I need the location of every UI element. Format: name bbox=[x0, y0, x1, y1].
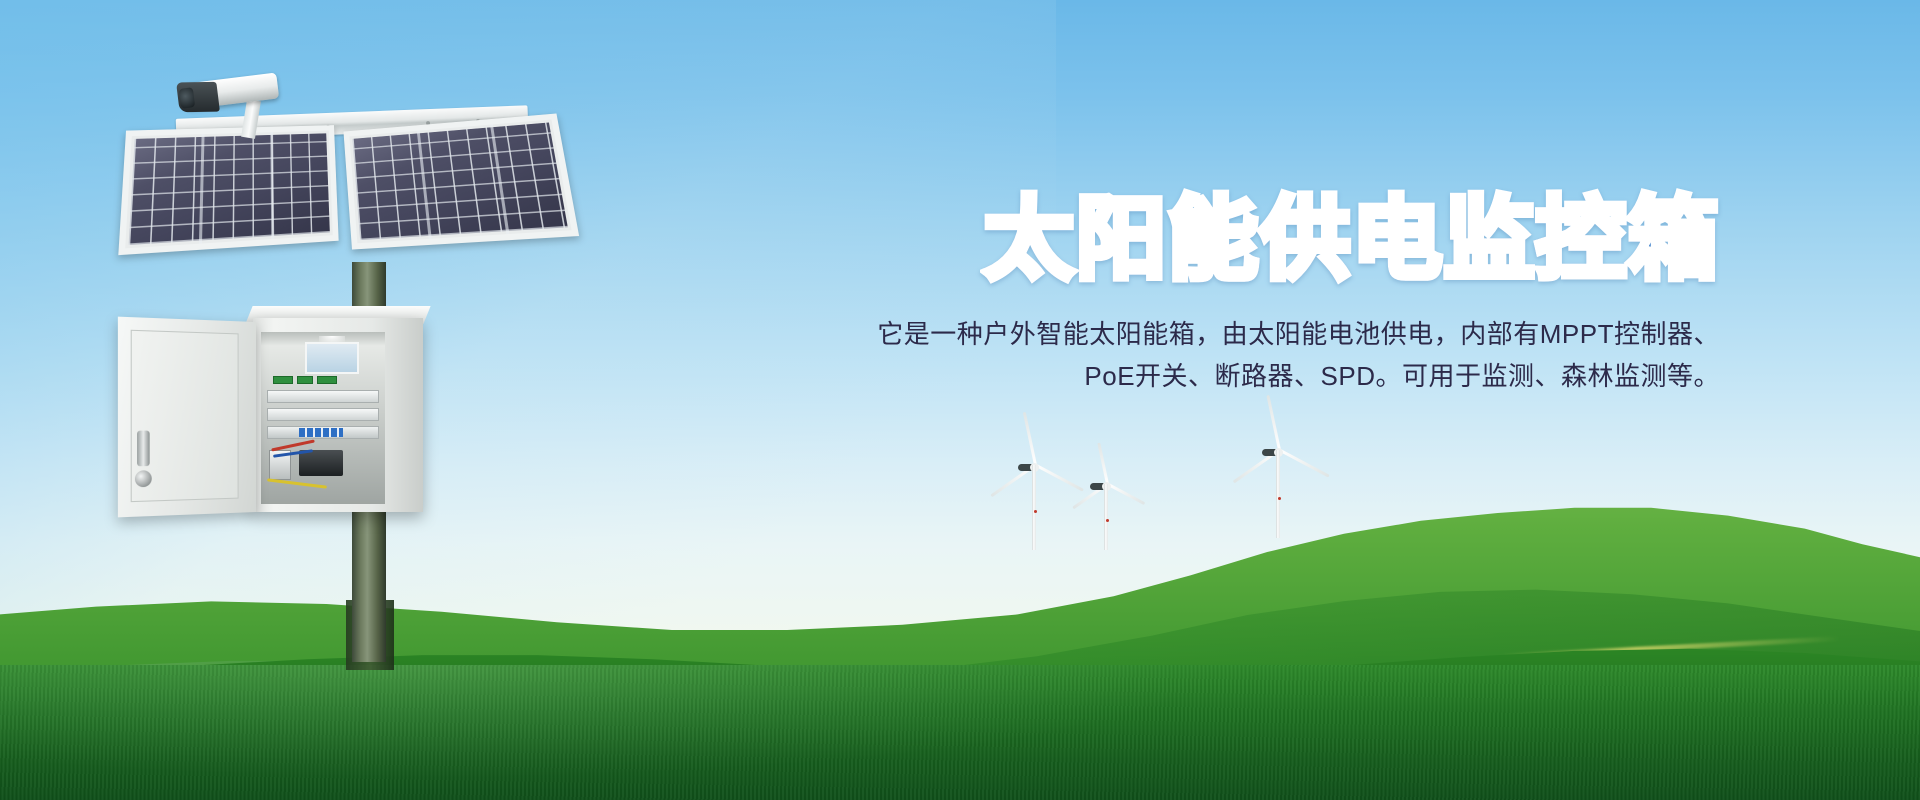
mppt-controller-screen bbox=[305, 342, 359, 374]
turbine-mast bbox=[1032, 465, 1036, 550]
banner-text-block: 太阳能供电监控箱 太阳能供电监控箱 它是一种户外智能太阳能箱，由太阳能电池供电，… bbox=[640, 190, 1720, 397]
solar-panel-left bbox=[118, 125, 338, 255]
turbine-mast bbox=[1276, 450, 1280, 538]
turbine-blade-tip-light bbox=[1034, 510, 1037, 513]
banner-title-wrap: 太阳能供电监控箱 太阳能供电监控箱 bbox=[984, 190, 1720, 291]
page-title: 太阳能供电监控箱 bbox=[984, 190, 1720, 291]
solar-panel-right bbox=[343, 113, 579, 249]
terminal-block bbox=[317, 376, 337, 384]
terminal-block bbox=[297, 376, 313, 384]
subtitle-line-1: 它是一种户外智能太阳能箱，由太阳能电池供电，内部有MPPT控制器、 bbox=[640, 313, 1720, 355]
turbine-mast bbox=[1104, 484, 1108, 550]
wind-turbine-3 bbox=[1242, 416, 1314, 538]
turbine-blade-tip-light bbox=[1278, 497, 1281, 500]
grass-field bbox=[0, 665, 1920, 800]
terminal-block bbox=[273, 376, 293, 384]
wind-turbine-2 bbox=[1080, 458, 1132, 550]
cabinet-interior bbox=[261, 332, 385, 504]
battery-pack bbox=[299, 450, 343, 476]
banner-subtitle: 它是一种户外智能太阳能箱，由太阳能电池供电，内部有MPPT控制器、 PoE开关、… bbox=[640, 313, 1720, 397]
subtitle-line-2: PoE开关、断路器、SPD。可用于监测、森林监测等。 bbox=[640, 355, 1720, 397]
cabinet-door[interactable] bbox=[118, 317, 256, 518]
poe-switch bbox=[267, 390, 379, 403]
solar-monitoring-banner: 太阳能供电监控箱 太阳能供电监控箱 它是一种户外智能太阳能箱，由太阳能电池供电，… bbox=[0, 0, 1920, 800]
wire-yellow bbox=[267, 478, 327, 488]
door-handle[interactable] bbox=[137, 431, 150, 467]
solar-cell-grid bbox=[352, 123, 567, 241]
fiber-adapter-strip bbox=[299, 428, 343, 437]
wind-turbine-1 bbox=[1000, 432, 1068, 550]
network-switch bbox=[267, 408, 379, 421]
turbine-blade-tip-light bbox=[1106, 519, 1109, 522]
solar-cell-grid bbox=[129, 133, 330, 245]
camera-lens-icon bbox=[179, 87, 195, 109]
